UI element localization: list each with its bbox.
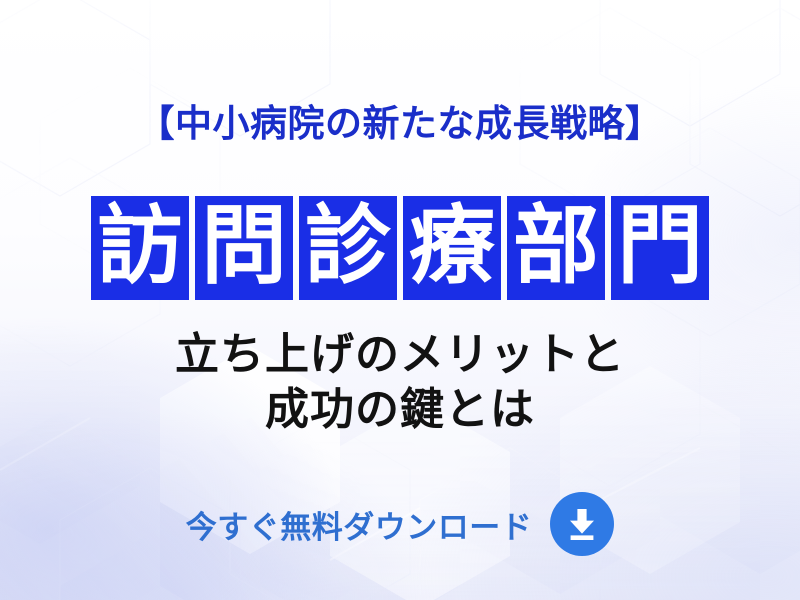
title-char: 療 (409, 203, 495, 289)
promo-slide: 【中小病院の新たな成長戦略】 訪 問 診 療 部 門 立ち上げのメリットと 成功… (0, 0, 800, 600)
subtitle-line-2: 成功の鍵とは (0, 382, 800, 437)
subtitle-block: 立ち上げのメリットと 成功の鍵とは (0, 327, 800, 438)
title-char: 問 (201, 203, 287, 289)
main-title-row: 訪 問 診 療 部 門 (0, 196, 800, 300)
title-box-char-1: 訪 (91, 196, 189, 300)
title-char: 部 (513, 203, 599, 289)
title-char: 訪 (97, 203, 183, 289)
subtitle-line-1: 立ち上げのメリットと (0, 327, 800, 382)
title-box-char-4: 療 (403, 196, 501, 300)
title-box-char-3: 診 (299, 196, 397, 300)
cta-block[interactable]: 今すぐ無料ダウンロード (0, 492, 800, 556)
title-box-char-5: 部 (507, 196, 605, 300)
download-circle-icon[interactable] (550, 492, 614, 556)
cta-label[interactable]: 今すぐ無料ダウンロード (186, 502, 533, 547)
title-box-char-2: 問 (195, 196, 293, 300)
title-char: 診 (305, 203, 391, 289)
headline-text: 【中小病院の新たな成長戦略】 (0, 104, 800, 145)
title-box-char-6: 門 (611, 196, 709, 300)
title-char: 門 (617, 203, 703, 289)
